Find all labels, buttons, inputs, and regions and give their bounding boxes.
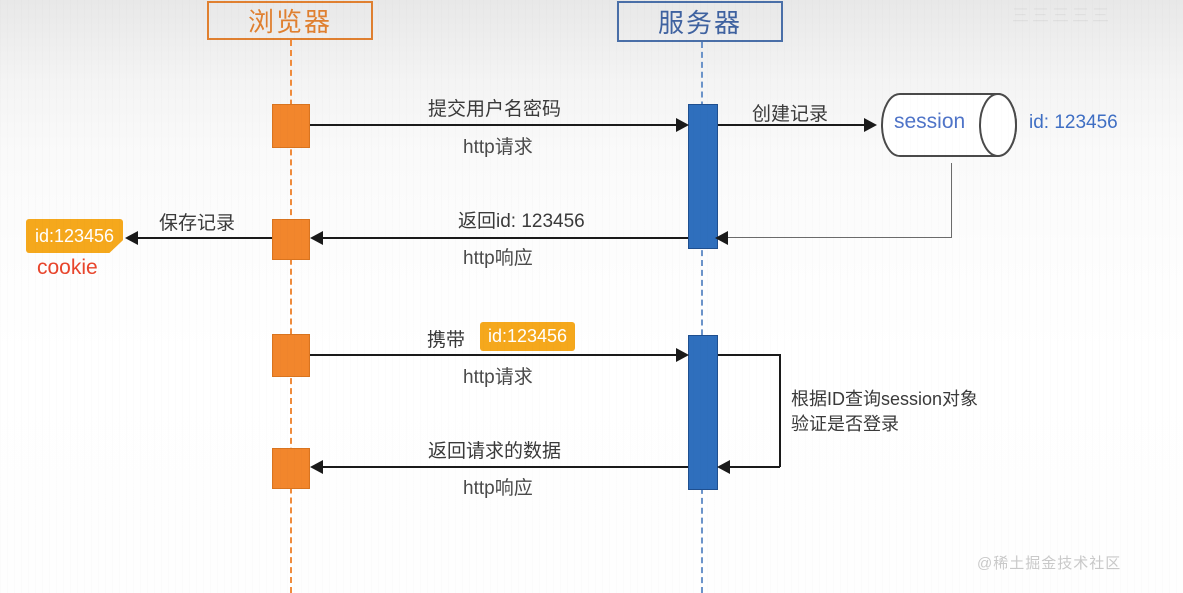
message-4-top-label: 返回请求的数据 [428,436,561,463]
self-loop-top-line [718,354,780,356]
save-record-arrowhead [125,231,138,245]
cookie-caption: cookie [37,256,98,280]
message-2-line [322,237,688,239]
session-return-line [718,237,952,238]
session-id-text: id: 123456 [1029,112,1118,134]
top-faint-text: 三三三三三 [1012,1,1112,26]
save-record-line [137,237,272,239]
self-loop-note-line2: 验证是否登录 [791,412,978,437]
message-2-top-label: 返回id: 123456 [458,206,585,233]
self-loop-bottom-line [730,466,780,468]
cookie-tag: id:123456 [26,219,123,253]
create-record-label: 创建记录 [752,99,828,126]
activation-browser-2 [272,219,310,260]
actor-server-label: 服务器 [658,3,742,40]
message-3-cookie-badge-value: id:123456 [488,326,567,347]
background-texture [0,0,1183,593]
activation-server-2 [688,335,718,490]
self-loop-vline [779,354,781,467]
message-1-arrowhead [676,118,689,132]
message-1-line [310,124,678,126]
session-return-arrowhead [715,231,728,245]
session-label: session [894,110,965,134]
actor-server[interactable]: 服务器 [617,1,783,42]
activation-server-1 [688,104,718,249]
self-loop-note-line1: 根据ID查询session对象 [791,387,978,412]
diagram-canvas: 三三三三三 浏览器 服务器 提交用户名密码 http请求 创建记录 sessio… [0,0,1183,593]
message-3-arrowhead [676,348,689,362]
self-loop-arrowhead [717,460,730,474]
actor-browser[interactable]: 浏览器 [207,1,373,40]
save-record-label: 保存记录 [159,208,235,235]
message-2-bottom-label: http响应 [463,243,533,270]
message-3-bottom-label: http请求 [463,362,533,389]
create-record-arrowhead [864,118,877,132]
message-4-bottom-label: http响应 [463,473,533,500]
activation-browser-1 [272,104,310,148]
message-4-line [322,466,688,468]
message-1-bottom-label: http请求 [463,132,533,159]
actor-browser-label: 浏览器 [248,2,332,39]
session-return-vline [951,163,952,238]
self-loop-note: 根据ID查询session对象 验证是否登录 [791,387,978,437]
message-4-arrowhead [310,460,323,474]
message-1-top-label: 提交用户名密码 [428,94,561,121]
message-2-arrowhead [310,231,323,245]
message-3-line [310,354,678,356]
message-3-top-label: 携带 [427,325,465,352]
activation-browser-3 [272,334,310,377]
message-3-cookie-badge: id:123456 [480,322,575,351]
activation-browser-4 [272,448,310,489]
watermark: @稀土掘金技术社区 [977,552,1121,573]
cookie-tag-value: id:123456 [35,226,114,247]
